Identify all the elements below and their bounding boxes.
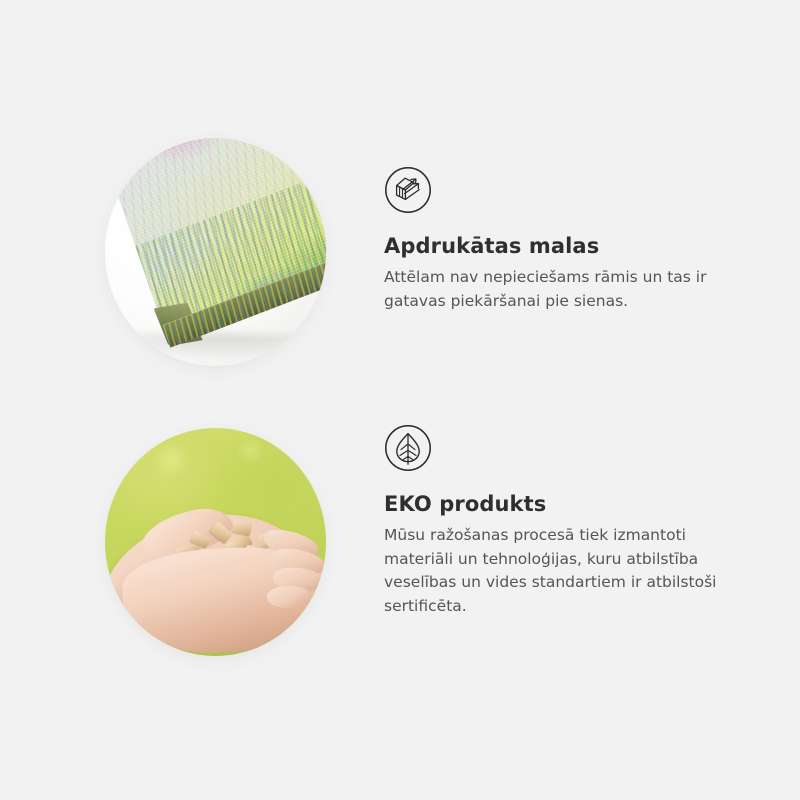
- eco-scene-background: [105, 428, 326, 656]
- canvas-scene: [105, 138, 326, 366]
- printed-edges-icon: [384, 166, 432, 214]
- canvas-print-corner-photo: [105, 138, 326, 366]
- feature-text-printed-edges: Apdrukātas malas Attēlam nav nepieciešam…: [384, 166, 750, 313]
- feature-title: Apdrukātas malas: [384, 234, 750, 259]
- hands-with-wood-chips-photo: [105, 428, 326, 656]
- hand-finger: [267, 586, 311, 608]
- feature-description: Mūsu ražošanas procesā tiek izmantoti ma…: [384, 524, 736, 618]
- photo-circle-mask: [105, 138, 326, 366]
- feature-title: EKO produkts: [384, 492, 750, 517]
- photo-circle-mask: [105, 428, 326, 656]
- canvas-block: [105, 138, 326, 366]
- feature-block-eco-product: EKO produkts Mūsu ražošanas procesā tiek…: [0, 410, 800, 680]
- promo-features-page: Apdrukātas malas Attēlam nav nepieciešam…: [0, 0, 800, 800]
- feature-block-printed-edges: Apdrukātas malas Attēlam nav nepieciešam…: [0, 120, 800, 390]
- feature-description: Attēlam nav nepieciešams rāmis un tas ir…: [384, 266, 736, 313]
- feature-text-eco-product: EKO produkts Mūsu ražošanas procesā tiek…: [384, 424, 750, 618]
- leaf-icon: [384, 424, 432, 472]
